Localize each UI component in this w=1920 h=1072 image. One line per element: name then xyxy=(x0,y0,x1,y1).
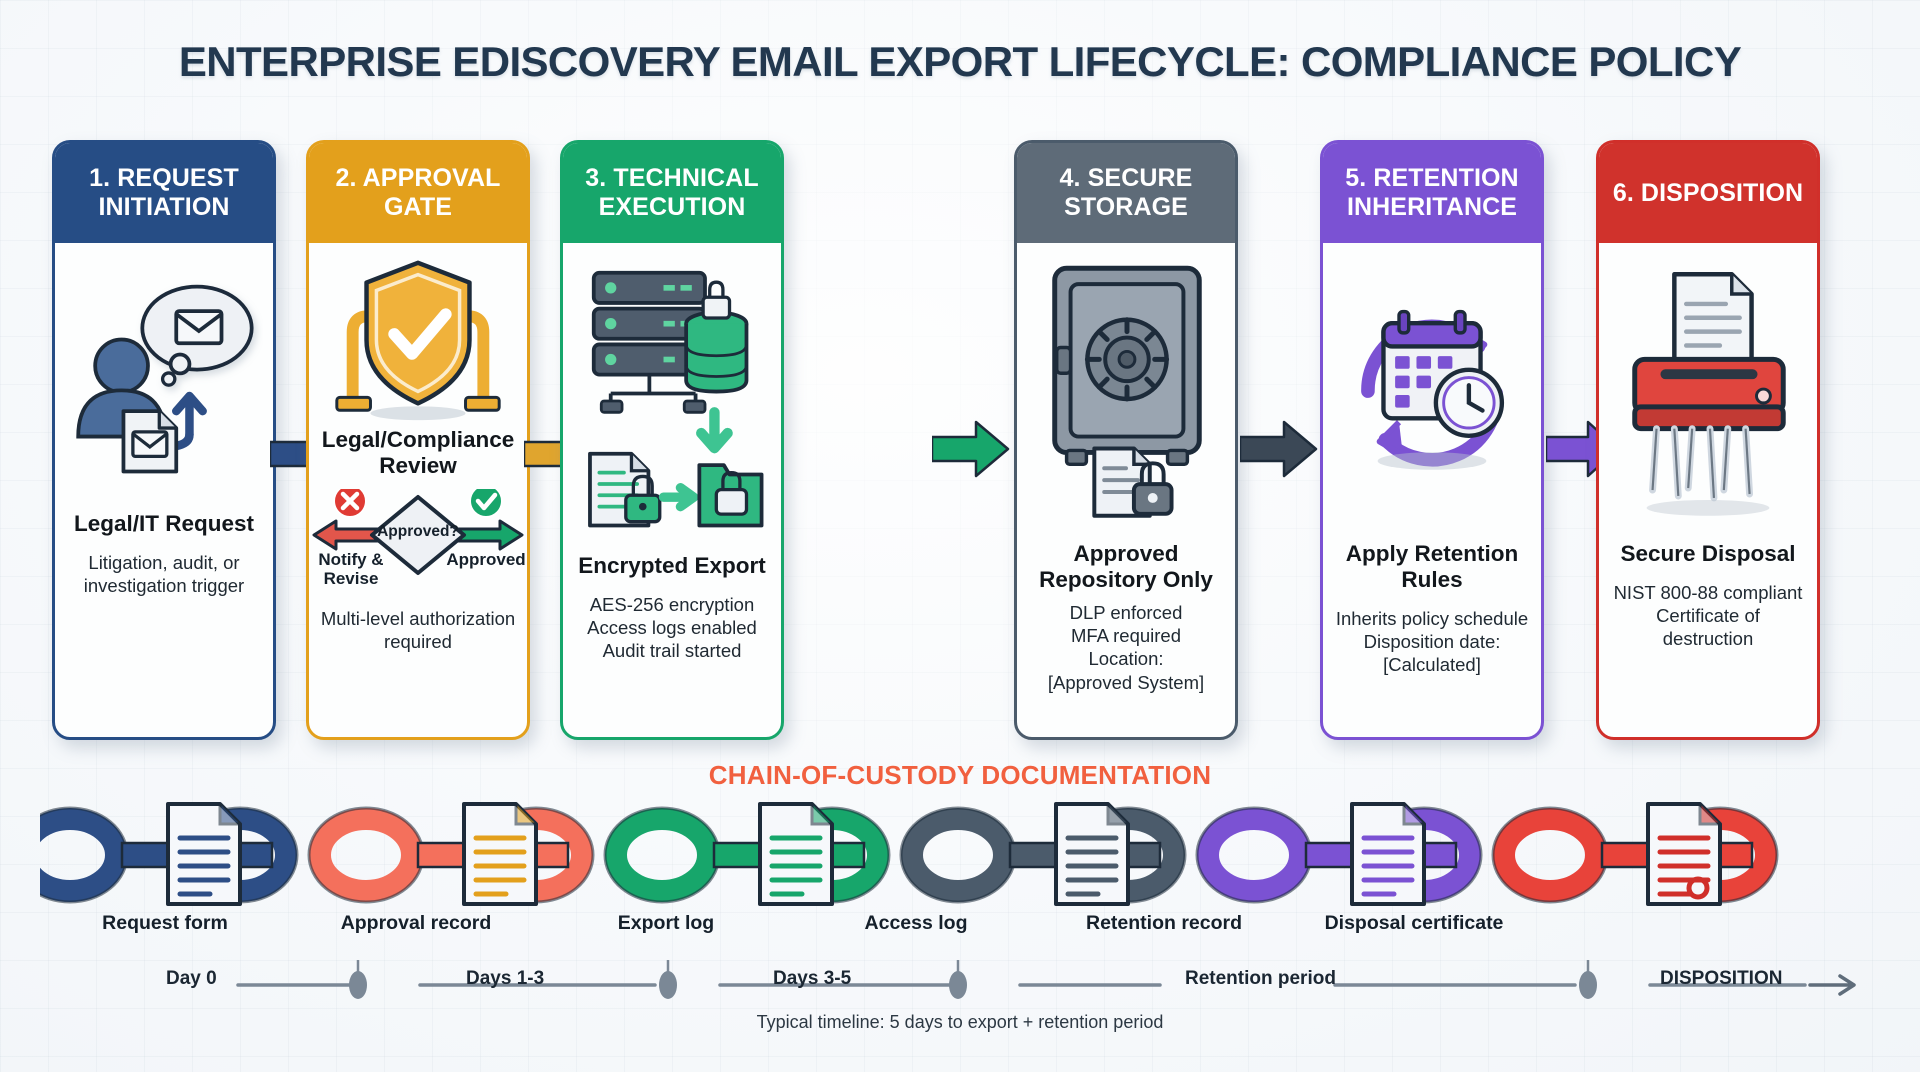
stage-2-desc: Multi-level authorization required xyxy=(319,607,517,653)
chain-doc-label-1: Request form xyxy=(35,912,295,935)
stage-card-6[interactable]: 6. DISPOSITION xyxy=(1596,140,1820,740)
chain-link xyxy=(1504,819,1596,891)
calendar-clock-cycle-icon xyxy=(1333,251,1531,539)
paper-shredder-icon xyxy=(1609,251,1807,539)
stage-2-label: Legal/Compliance Review xyxy=(319,427,517,479)
timeline-segment-4: Retention period xyxy=(1185,968,1336,990)
stage-5-desc: Inherits policy schedule Disposition dat… xyxy=(1336,607,1528,676)
stage-1-header: 1. REQUEST INITIATION xyxy=(55,143,273,243)
chain-link xyxy=(912,819,1004,891)
chain-link xyxy=(320,819,412,891)
stage-5-header: 5. RETENTION INHERITANCE xyxy=(1323,143,1541,243)
stage-6-label: Secure Disposal xyxy=(1620,541,1795,567)
chain-doc-label-2: Approval record xyxy=(286,912,546,935)
chain-doc-label-6: Disposal certificate xyxy=(1284,912,1544,935)
connector-arrow-3 xyxy=(932,420,1006,478)
chain-doc-label-4: Access log xyxy=(786,912,1046,935)
stage-4-desc: DLP enforced MFA required Location: [App… xyxy=(1048,601,1204,694)
approval-decision-group: Approved? Notify & Revise Approved xyxy=(306,489,530,585)
stage-card-4[interactable]: 4. SECURE STORAGE xyxy=(1014,140,1238,740)
stage-3-desc: AES-256 encryption Access logs enabled A… xyxy=(587,593,757,662)
timeline-note: Typical timeline: 5 days to export + ret… xyxy=(0,1012,1920,1033)
shield-check-gate-icon xyxy=(319,257,517,421)
stage-4-header: 4. SECURE STORAGE xyxy=(1017,143,1235,243)
stage-card-5[interactable]: 5. RETENTION INHERITANCE xyxy=(1320,140,1544,740)
page-title: ENTERPRISE EDISCOVERY EMAIL EXPORT LIFEC… xyxy=(0,38,1920,86)
timeline-graphic xyxy=(0,960,1920,1010)
server-database-lock-encrypted-file-icon xyxy=(573,251,771,551)
stage-1-label: Legal/IT Request xyxy=(74,511,254,537)
safe-vault-locked-document-icon xyxy=(1027,251,1225,539)
decision-no-label: Notify & Revise xyxy=(306,551,400,588)
chain-link xyxy=(1208,819,1300,891)
decision-yes-label: Approved xyxy=(438,551,530,570)
stage-3-header: 3. TECHNICAL EXECUTION xyxy=(563,143,781,243)
timeline-segment-5: DISPOSITION xyxy=(1660,968,1782,990)
person-thinking-email-document-icon xyxy=(65,251,263,509)
stage-2-header: 2. APPROVAL GATE xyxy=(309,143,527,243)
stage-1-desc: Litigation, audit, or investigation trig… xyxy=(65,551,263,597)
chain-link xyxy=(40,819,116,891)
chain-of-custody-graphic xyxy=(40,790,1890,920)
timeline-segment-2: Days 1-3 xyxy=(466,968,544,990)
stage-card-2[interactable]: 2. APPROVAL GATE Legal/Compliance Review xyxy=(306,140,530,740)
decision-question: Approved? xyxy=(372,523,464,541)
stage-card-3[interactable]: 3. TECHNICAL EXECUTION xyxy=(560,140,784,740)
chain-link xyxy=(616,819,708,891)
infographic-root: ENTERPRISE EDISCOVERY EMAIL EXPORT LIFEC… xyxy=(0,0,1920,1072)
timeline-segment-3: Days 3-5 xyxy=(773,968,851,990)
stage-6-desc: NIST 800-88 compliant Certificate of des… xyxy=(1609,581,1807,650)
chain-doc-label-5: Retention record xyxy=(1034,912,1294,935)
chain-of-custody-title: CHAIN-OF-CUSTODY DOCUMENTATION xyxy=(0,760,1920,791)
stage-5-label: Apply Retention Rules xyxy=(1333,541,1531,593)
chain-doc-label-3: Export log xyxy=(536,912,796,935)
stage-3-label: Encrypted Export xyxy=(578,553,766,579)
timeline-segment-1: Day 0 xyxy=(166,968,217,990)
connector-arrow-4 xyxy=(1240,420,1314,478)
stage-6-header: 6. DISPOSITION xyxy=(1599,143,1817,243)
stage-4-label: Approved Repository Only xyxy=(1027,541,1225,593)
stage-card-1[interactable]: 1. REQUEST INITIATION xyxy=(52,140,276,740)
